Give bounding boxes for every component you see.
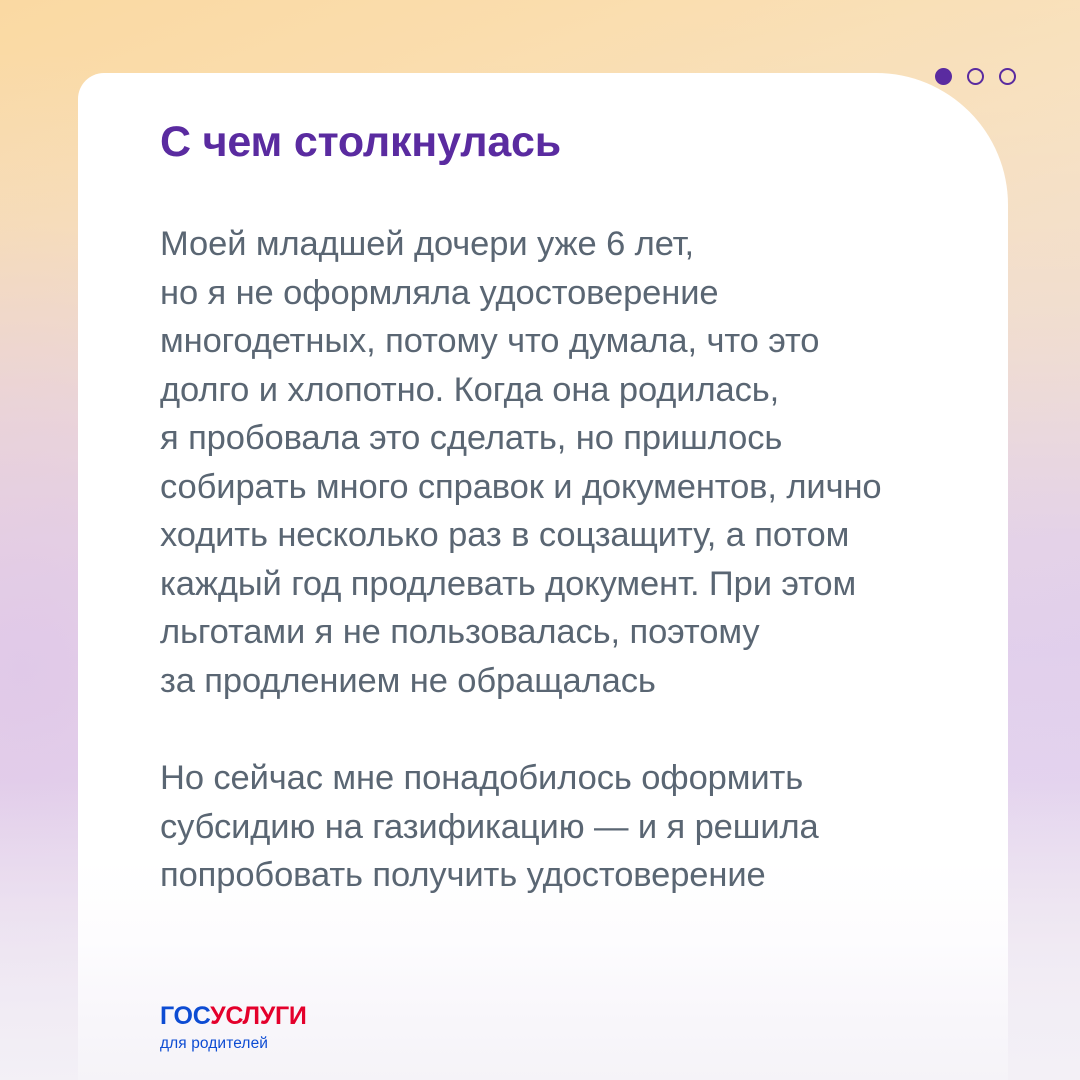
card-content: С чем столкнулась Моей младшей дочери уж…	[160, 118, 970, 900]
body-copy: Моей младшей дочери уже 6 лет, но я не о…	[160, 220, 970, 900]
logo-subtitle: для родителей	[160, 1036, 307, 1052]
pagination-dots[interactable]	[935, 68, 1016, 85]
paragraph-1: Моей младшей дочери уже 6 лет, но я не о…	[160, 220, 970, 705]
logo-wordmark-uslugi: УСЛУГИ	[210, 1002, 306, 1030]
page-title: С чем столкнулась	[160, 118, 970, 166]
pagination-dot-1-active[interactable]	[935, 68, 952, 85]
gosuslugi-logo: ГОСУСЛУГИ для родителей	[160, 1004, 307, 1052]
paragraph-2: Но сейчас мне понадобилось оформить субс…	[160, 754, 970, 900]
logo-wordmark-gos: ГОС	[160, 1002, 210, 1030]
logo-wordmark: ГОСУСЛУГИ	[160, 1004, 307, 1029]
pagination-dot-2[interactable]	[967, 68, 984, 85]
slide-canvas: С чем столкнулась Моей младшей дочери уж…	[0, 0, 1080, 1080]
pagination-dot-3[interactable]	[999, 68, 1016, 85]
